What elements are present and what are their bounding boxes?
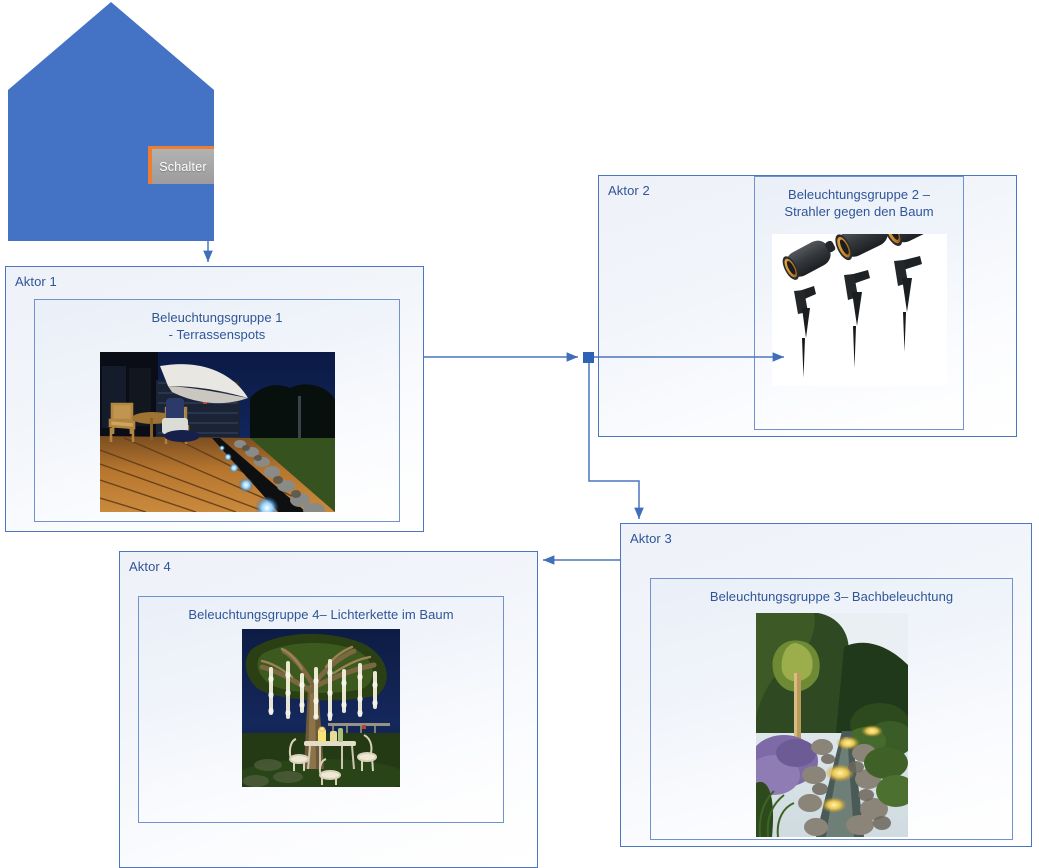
house-shape[interactable] [8, 2, 214, 241]
lighting-group-3[interactable]: Beleuchtungsgruppe 3– Bachbeleuchtung [650, 578, 1013, 840]
actor-box-4[interactable]: Aktor 4 Beleuchtungsgruppe 4– Lichterket… [119, 551, 538, 868]
actor-box-2[interactable]: Aktor 2 Beleuchtungsgruppe 2 – Strahler … [598, 175, 1017, 437]
tree-fairy-lights-photo [242, 629, 400, 787]
lighting-group-2[interactable]: Beleuchtungsgruppe 2 – Strahler gegen de… [754, 176, 964, 430]
lighting-group-1[interactable]: Beleuchtungsgruppe 1 - Terrassenspots [34, 299, 400, 522]
actor-box-3[interactable]: Aktor 3 Beleuchtungsgruppe 3– Bachbeleuc… [620, 523, 1032, 847]
actor-4-label: Aktor 4 [129, 559, 171, 574]
lighting-group-4-title: Beleuchtungsgruppe 4– Lichterkette im Ba… [188, 606, 453, 623]
stream-lighting-photo [756, 613, 908, 837]
junction-node[interactable] [583, 352, 594, 363]
garden-spotlights-photo [772, 234, 947, 386]
lighting-group-2-title: Beleuchtungsgruppe 2 – Strahler gegen de… [784, 186, 933, 220]
lighting-group-1-title: Beleuchtungsgruppe 1 - Terrassenspots [151, 309, 282, 343]
actor-3-label: Aktor 3 [630, 531, 672, 546]
diagram-canvas: Schalter Aktor 1 Beleuchtungsgruppe 1 - … [0, 0, 1039, 868]
switch-label[interactable]: Schalter [148, 146, 214, 184]
terrace-spots-photo [100, 352, 335, 512]
switch-text: Schalter [159, 160, 206, 174]
lighting-group-3-title: Beleuchtungsgruppe 3– Bachbeleuchtung [710, 588, 953, 605]
actor-2-label: Aktor 2 [608, 183, 650, 198]
actor-1-label: Aktor 1 [15, 274, 57, 289]
lighting-group-4[interactable]: Beleuchtungsgruppe 4– Lichterkette im Ba… [138, 596, 504, 823]
actor-box-1[interactable]: Aktor 1 Beleuchtungsgruppe 1 - Terrassen… [5, 266, 424, 532]
